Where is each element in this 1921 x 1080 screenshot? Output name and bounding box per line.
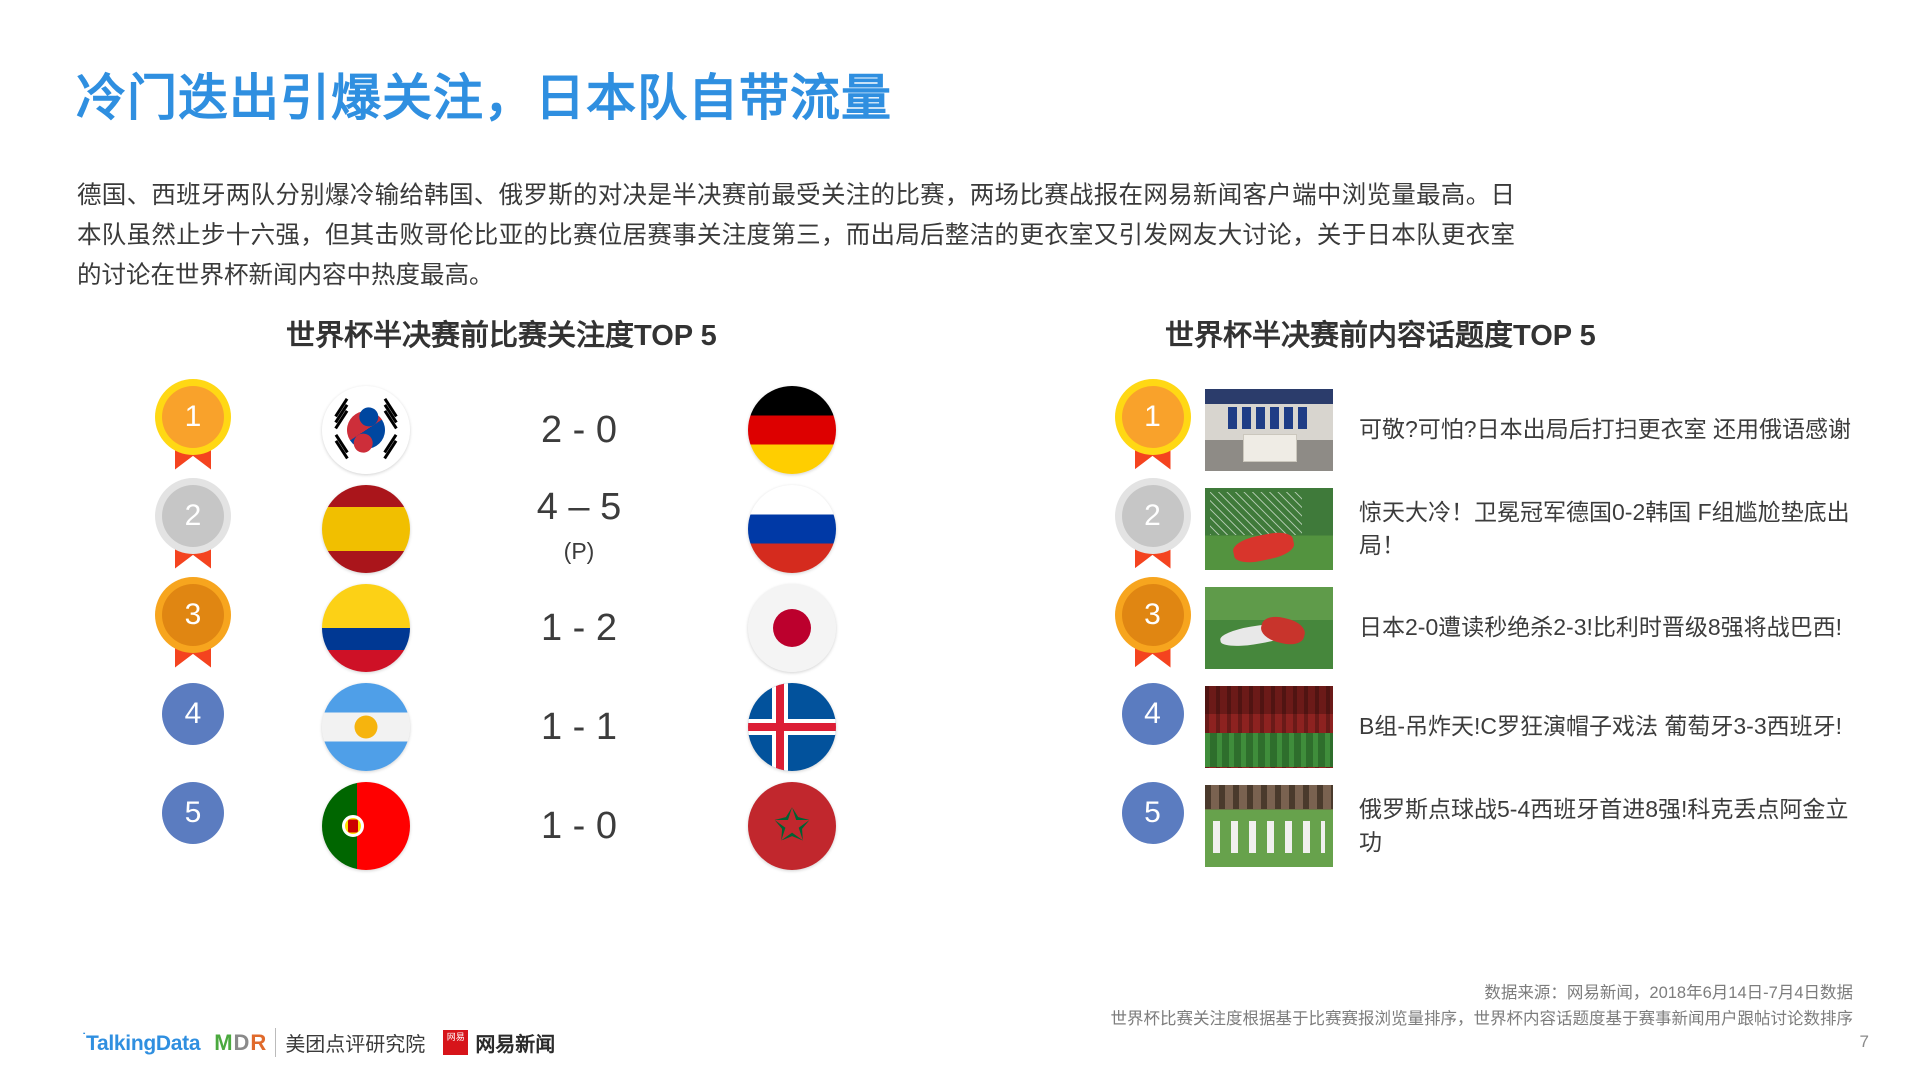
goal-save-photo[interactable] [1205, 488, 1333, 570]
mdr-logo-d: D [234, 1030, 251, 1055]
portugal-flag [322, 782, 410, 870]
rank-cell: 5 [118, 782, 268, 870]
score-text: 1 - 2 [541, 607, 617, 649]
left-panel-heading: 世界杯半决赛前比赛关注度TOP 5 [286, 312, 717, 354]
news-title[interactable]: 可敬?可怕?日本出局后打扫更衣室 还用俄语感谢 [1359, 413, 1859, 446]
news-row[interactable]: 4 B组-吊炸天!C罗狂演帽子戏法 葡萄牙3-3西班牙! [1100, 677, 1890, 776]
rank-cell: 5 [1100, 782, 1205, 870]
away-flag-cell [694, 485, 890, 573]
news-row[interactable]: 5 俄罗斯点球战5-4西班牙首进8强!科克丢点阿金立功 [1100, 776, 1890, 875]
match-row[interactable]: 4 1 - 1 [118, 677, 938, 776]
rank-number: 1 [162, 386, 224, 448]
korea-flag [322, 386, 410, 474]
rank-number: 2 [162, 485, 224, 547]
home-flag-cell [268, 584, 464, 672]
rank-cell: 2 [118, 485, 268, 573]
netease-logo-text: 网易新闻 [475, 1028, 555, 1057]
news-row[interactable]: 3 日本2-0遭读秒绝杀2-3!比利时晋级8强将战巴西! [1100, 578, 1890, 677]
score-text: 1 - 0 [541, 805, 617, 847]
netease-logo: 网易 网易新闻 [443, 1028, 555, 1057]
argentina-flag [322, 683, 410, 771]
away-flag-cell [694, 386, 890, 474]
netease-mark-icon: 网易 [443, 1030, 468, 1055]
match-row[interactable]: 3 1 - 2 [118, 578, 938, 677]
page-number: 7 [1860, 1032, 1869, 1052]
mdr-logo-r: R [250, 1030, 267, 1055]
match-score: 1 - 2 [464, 607, 694, 649]
match-row[interactable]: 1 [118, 380, 938, 479]
rank-number: 3 [162, 584, 224, 646]
mdr-logo-cn-text: 美团点评研究院 [275, 1028, 425, 1057]
silver-medal-icon: 2 [162, 485, 224, 573]
footnote-method: 世界杯比赛关注度根据基于比赛赛报浏览量排序，世界杯内容话题度基于赛事新闻用户跟帖… [1111, 1006, 1854, 1032]
home-flag-cell [268, 782, 464, 870]
home-flag-cell [268, 683, 464, 771]
footnote-source: 数据来源：网易新闻，2018年6月14日-7月4日数据 [1111, 980, 1854, 1006]
rank-number: 2 [1122, 485, 1184, 547]
colombia-flag [322, 584, 410, 672]
mdr-logo: MDR [214, 1030, 267, 1056]
match-ranking-list: 1 [118, 380, 938, 875]
red-crowd-photo[interactable] [1205, 686, 1333, 768]
rank-cell: 2 [1100, 485, 1205, 573]
match-score: 1 - 1 [464, 706, 694, 748]
players-on-pitch-photo[interactable] [1205, 587, 1333, 669]
russia-flag [748, 485, 836, 573]
score-text: 1 - 1 [541, 706, 617, 748]
gold-medal-icon: 1 [1122, 386, 1184, 474]
rank-number: 5 [162, 782, 224, 844]
germany-flag [748, 386, 836, 474]
news-row[interactable]: 2 惊天大冷！卫冕冠军德国0-2韩国 F组尴尬垫底出局！ [1100, 479, 1890, 578]
match-score: 1 - 0 [464, 805, 694, 847]
away-flag-cell [694, 683, 890, 771]
iceland-flag [748, 683, 836, 771]
news-title[interactable]: 惊天大冷！卫冕冠军德国0-2韩国 F组尴尬垫底出局！ [1359, 496, 1859, 562]
rank-number: 4 [1122, 683, 1184, 745]
match-score: 2 - 0 [464, 409, 694, 451]
rank-cell: 1 [118, 386, 268, 474]
rank-circle-icon: 5 [1122, 782, 1184, 870]
news-title[interactable]: B组-吊炸天!C罗狂演帽子戏法 葡萄牙3-3西班牙! [1359, 710, 1859, 743]
morocco-flag: ✩ [748, 782, 836, 870]
news-title[interactable]: 俄罗斯点球战5-4西班牙首进8强!科克丢点阿金立功 [1359, 793, 1859, 859]
rank-cell: 4 [1100, 683, 1205, 771]
celebration-photo[interactable] [1205, 785, 1333, 867]
japan-flag [748, 584, 836, 672]
rank-circle-icon: 4 [1122, 683, 1184, 771]
locker-room-photo[interactable] [1205, 389, 1333, 471]
match-row[interactable]: 5 1 - 0 ✩ [118, 776, 938, 875]
talkingdata-logo: ˙TalkingData [82, 1030, 200, 1056]
rank-number: 4 [162, 683, 224, 745]
footnotes: 数据来源：网易新闻，2018年6月14日-7月4日数据 世界杯比赛关注度根据基于… [1111, 980, 1854, 1032]
slide-root: 冷门迭出引爆关注，日本队自带流量 德国、西班牙两队分别爆冷输给韩国、俄罗斯的对决… [0, 0, 1921, 1080]
score-text: 4 – 5 [537, 486, 622, 528]
talkingdata-logo-text: TalkingData [86, 1032, 200, 1055]
news-row[interactable]: 1 可敬?可怕?日本出局后打扫更衣室 还用俄语感谢 [1100, 380, 1890, 479]
silver-medal-icon: 2 [1122, 485, 1184, 573]
right-panel-heading: 世界杯半决赛前内容话题度TOP 5 [1165, 312, 1596, 354]
penalty-note: (P) [464, 530, 694, 572]
score-text: 2 - 0 [541, 409, 617, 451]
gold-medal-icon: 1 [162, 386, 224, 474]
match-score: 4 – 5 (P) [464, 486, 694, 572]
news-ranking-list: 1 可敬?可怕?日本出局后打扫更衣室 还用俄语感谢 2 惊天大冷！卫冕冠军德国0… [1100, 380, 1890, 875]
away-flag-cell [694, 584, 890, 672]
rank-cell: 4 [118, 683, 268, 771]
rank-number: 3 [1122, 584, 1184, 646]
rank-cell: 1 [1100, 386, 1205, 474]
away-flag-cell: ✩ [694, 782, 890, 870]
mdr-logo-m: M [214, 1030, 233, 1055]
bronze-medal-icon: 3 [162, 584, 224, 672]
rank-circle-icon: 4 [162, 683, 224, 771]
spain-flag [322, 485, 410, 573]
rank-cell: 3 [1100, 584, 1205, 672]
bronze-medal-icon: 3 [1122, 584, 1184, 672]
rank-number: 5 [1122, 782, 1184, 844]
page-description: 德国、西班牙两队分别爆冷输给韩国、俄罗斯的对决是半决赛前最受关注的比赛，两场比赛… [77, 176, 1515, 296]
rank-number: 1 [1122, 386, 1184, 448]
match-row[interactable]: 2 4 – 5 (P) [118, 479, 938, 578]
footer-logos: ˙TalkingData MDR 美团点评研究院 网易 网易新闻 [82, 1028, 555, 1057]
home-flag-cell [268, 386, 464, 474]
home-flag-cell [268, 485, 464, 573]
page-title: 冷门迭出引爆关注，日本队自带流量 [76, 58, 892, 130]
rank-circle-icon: 5 [162, 782, 224, 870]
news-title[interactable]: 日本2-0遭读秒绝杀2-3!比利时晋级8强将战巴西! [1359, 611, 1859, 644]
rank-cell: 3 [118, 584, 268, 672]
